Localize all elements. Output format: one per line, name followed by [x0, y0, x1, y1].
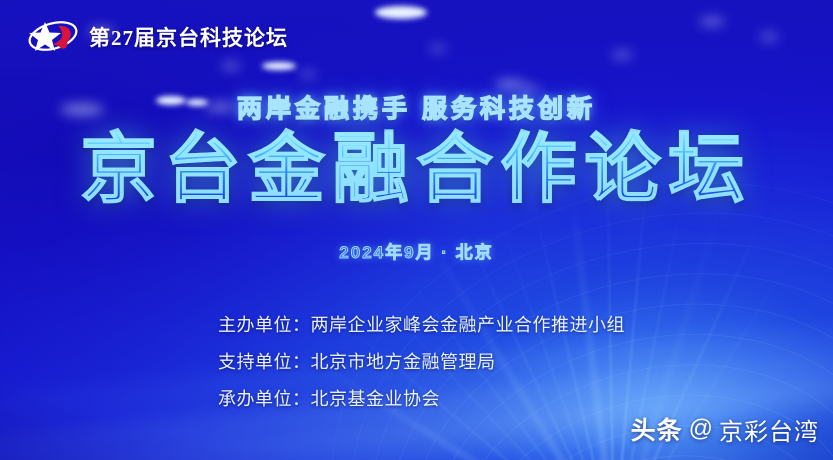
banner-subtitle: 两岸金融携手 服务科技创新 — [0, 89, 833, 125]
watermark-brand: 头条 — [631, 411, 683, 447]
forum-logo-text: 第27届京台科技论坛 — [89, 22, 288, 52]
organizer-line: 支持单位：北京市地方金融管理局 — [218, 348, 625, 374]
watermark-account: 京彩台湾 — [719, 412, 819, 447]
organizer-list: 主办单位：两岸企业家峰会金融产业合作推进小组 支持单位：北京市地方金融管理局 承… — [218, 311, 625, 411]
watermark-at-icon: @ — [689, 415, 713, 443]
forum-logo: 第27届京台科技论坛 — [28, 20, 288, 54]
star-swoosh-emblem-icon — [28, 20, 80, 54]
organizer-line: 主办单位：两岸企业家峰会金融产业合作推进小组 — [218, 311, 625, 337]
event-banner-image: 第27届京台科技论坛 两岸金融携手 服务科技创新 京台金融合作论坛 2024年9… — [0, 0, 833, 460]
banner-main-title: 京台金融合作论坛 — [0, 132, 833, 208]
organizer-line: 承办单位：北京基金业协会 — [218, 385, 625, 411]
banner-date-location: 2024年9月 · 北京 — [0, 238, 833, 263]
watermark: 头条 @ 京彩台湾 — [631, 411, 819, 447]
